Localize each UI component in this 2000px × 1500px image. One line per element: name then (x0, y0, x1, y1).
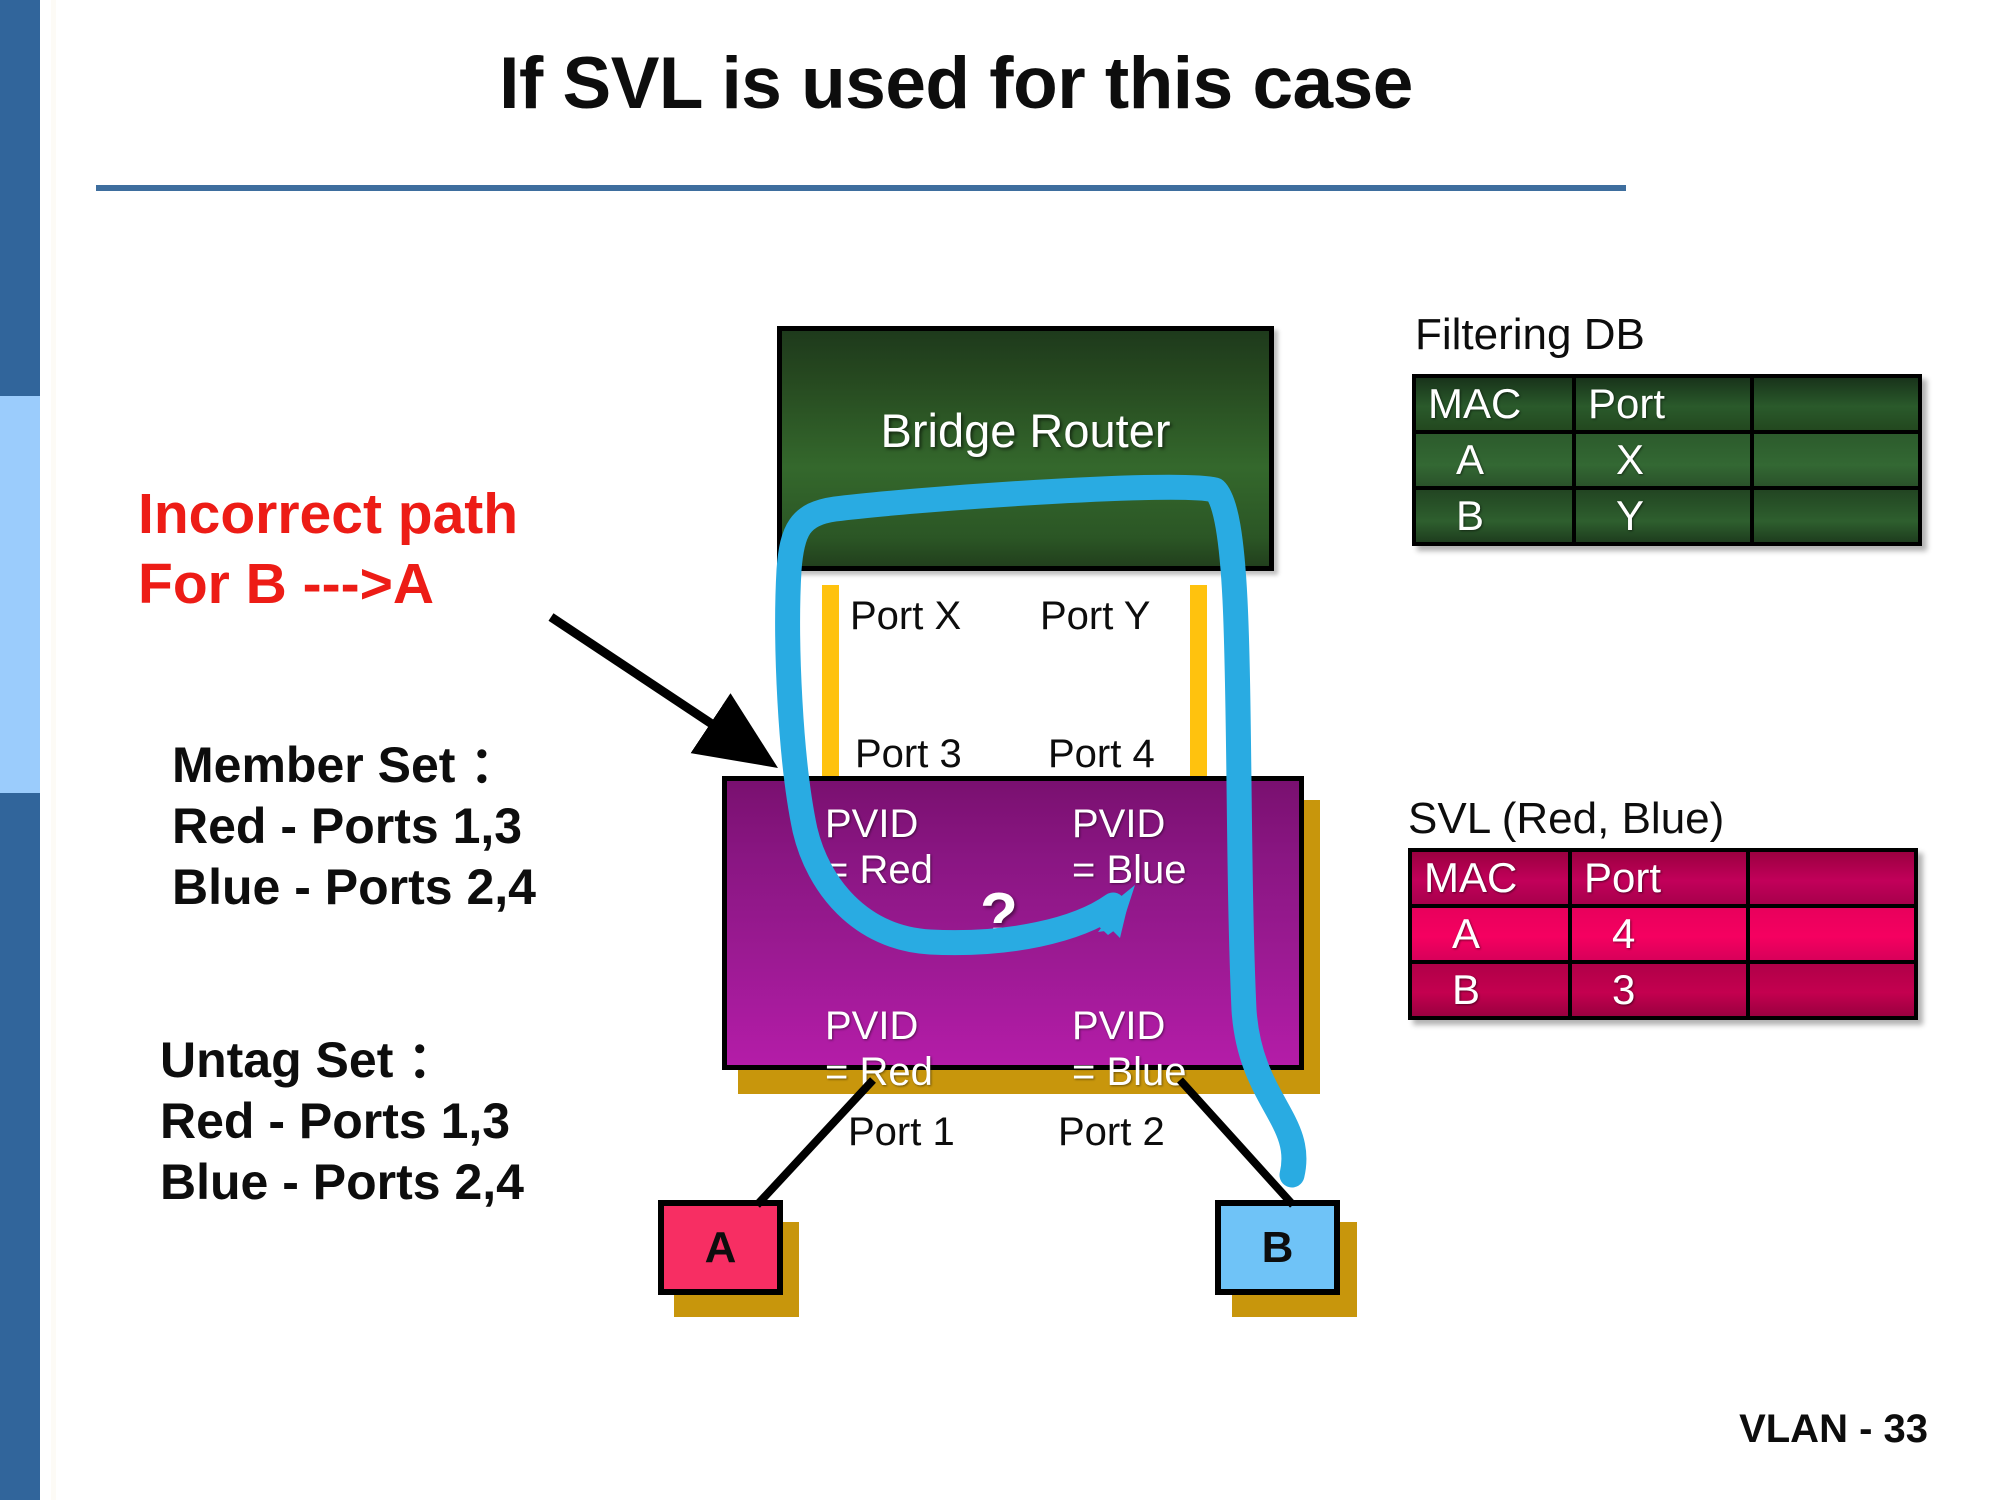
table-row: A 4 (1410, 906, 1916, 962)
title-divider (96, 185, 1626, 191)
svl-table-title: SVL (Red, Blue) (1408, 794, 1724, 844)
svl-r0-blank (1748, 906, 1916, 962)
fdb-header-blank (1752, 376, 1920, 432)
untag-set-blue: Blue - Ports 2,4 (160, 1152, 524, 1213)
annotation-line-1: Incorrect path (138, 480, 518, 550)
svl-r1-mac: B (1410, 962, 1570, 1018)
table-row: B 3 (1410, 962, 1916, 1018)
member-set-block: Member Set ： Red - Ports 1,3 Blue - Port… (172, 735, 536, 918)
annotation-line-2: For B --->A (138, 550, 518, 620)
fdb-r0-mac: A (1414, 432, 1574, 488)
fdb-header-mac: MAC (1414, 376, 1574, 432)
sidebar-band-bottom (0, 793, 40, 1500)
slide-canvas: If SVL is used for this case Incorrect p… (0, 0, 2000, 1500)
port-3-label: Port 3 (855, 732, 962, 777)
page-title: If SVL is used for this case (96, 46, 1816, 123)
member-set-red: Red - Ports 1,3 (172, 796, 536, 857)
port-y-label: Port Y (1040, 594, 1150, 639)
untag-set-header: Untag Set ： (160, 1030, 524, 1091)
bridge-router-box: Bridge Router (777, 326, 1274, 571)
svl-header-blank (1748, 850, 1916, 906)
node-b-box: B (1215, 1200, 1340, 1295)
incorrect-path-annotation: Incorrect path For B --->A (138, 480, 518, 619)
port-4-label: Port 4 (1048, 732, 1155, 777)
svl-header-mac: MAC (1410, 850, 1570, 906)
port-x-label: Port X (850, 594, 961, 639)
table-row: A X (1414, 432, 1920, 488)
fdb-r1-blank (1752, 488, 1920, 544)
svl-r0-port: 4 (1570, 906, 1748, 962)
filtering-db-table: MAC Port A X B Y (1412, 374, 1922, 546)
table-header-row: MAC Port (1410, 850, 1916, 906)
sidebar-hairline (51, 0, 56, 1500)
member-set-header: Member Set ： (172, 735, 536, 796)
fdb-r1-port: Y (1574, 488, 1752, 544)
pvid-port4-label: PVID = Blue (1072, 801, 1187, 893)
fdb-r1-mac: B (1414, 488, 1574, 544)
table-header-row: MAC Port (1414, 376, 1920, 432)
svl-r1-port: 3 (1570, 962, 1748, 1018)
filtering-db-title: Filtering DB (1415, 310, 1645, 360)
bridge-router-label: Bridge Router (782, 403, 1269, 458)
pvid-port1-label: PVID = Red (825, 1003, 933, 1095)
table-row: B Y (1414, 488, 1920, 544)
port-2-label: Port 2 (1058, 1110, 1165, 1155)
fdb-header-port: Port (1574, 376, 1752, 432)
slide-footer: VLAN - 33 (1739, 1407, 1928, 1452)
pvid-port3-label: PVID = Red (825, 801, 933, 893)
svl-header-port: Port (1570, 850, 1748, 906)
question-mark-label: ? (980, 880, 1018, 951)
sidebar-band-top (0, 0, 40, 396)
fdb-r0-blank (1752, 432, 1920, 488)
member-set-blue: Blue - Ports 2,4 (172, 857, 536, 918)
node-a-box: A (658, 1200, 783, 1295)
port-y-trunk-bar (1190, 585, 1207, 785)
pvid-port2-label: PVID = Blue (1072, 1003, 1187, 1095)
link-port2-to-b (1180, 1080, 1293, 1205)
port-x-trunk-bar (822, 585, 839, 785)
svl-r1-blank (1748, 962, 1916, 1018)
svl-r0-mac: A (1410, 906, 1570, 962)
untag-set-block: Untag Set ： Red - Ports 1,3 Blue - Ports… (160, 1030, 524, 1213)
svl-table: MAC Port A 4 B 3 (1408, 848, 1918, 1020)
port-1-label: Port 1 (848, 1110, 955, 1155)
untag-set-red: Red - Ports 1,3 (160, 1091, 524, 1152)
sidebar-band-middle (0, 396, 40, 793)
fdb-r0-port: X (1574, 432, 1752, 488)
annotation-leader-arrow (551, 617, 763, 758)
